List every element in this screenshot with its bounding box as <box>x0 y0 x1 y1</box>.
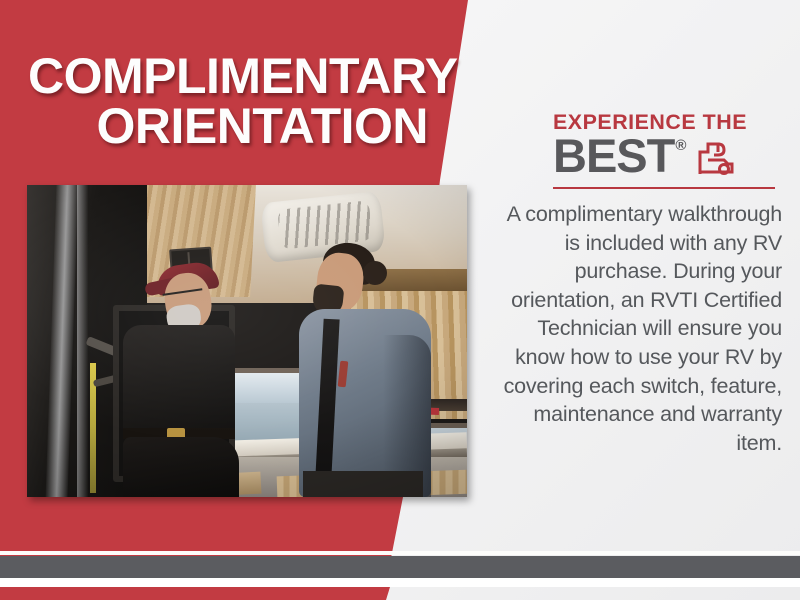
logo-wordmark-row: BEST ® <box>553 134 781 181</box>
logo-divider-rule <box>553 187 775 189</box>
footer-gray-band <box>0 556 800 578</box>
logo-wordmark: BEST <box>553 134 674 177</box>
photo-color-grade <box>27 185 467 497</box>
headline: COMPLIMENTARY ORIENTATION <box>28 52 428 150</box>
registered-trademark-icon: ® <box>675 137 686 154</box>
experience-the-best-logo: EXPERIENCE THE BEST ® <box>553 112 781 189</box>
headline-line-1: COMPLIMENTARY <box>28 52 428 100</box>
body-copy: A complimentary walkthrough is included … <box>500 200 782 457</box>
promotional-poster: COMPLIMENTARY ORIENTATION <box>0 0 800 600</box>
rv-motorhome-icon <box>694 138 736 181</box>
footer-white-band <box>0 578 800 587</box>
footer-red-band <box>0 587 420 600</box>
headline-line-2: ORIENTATION <box>28 102 428 150</box>
orientation-photo <box>27 185 467 497</box>
logo-tagline: EXPERIENCE THE <box>553 112 786 133</box>
footer-hairline <box>0 551 800 555</box>
